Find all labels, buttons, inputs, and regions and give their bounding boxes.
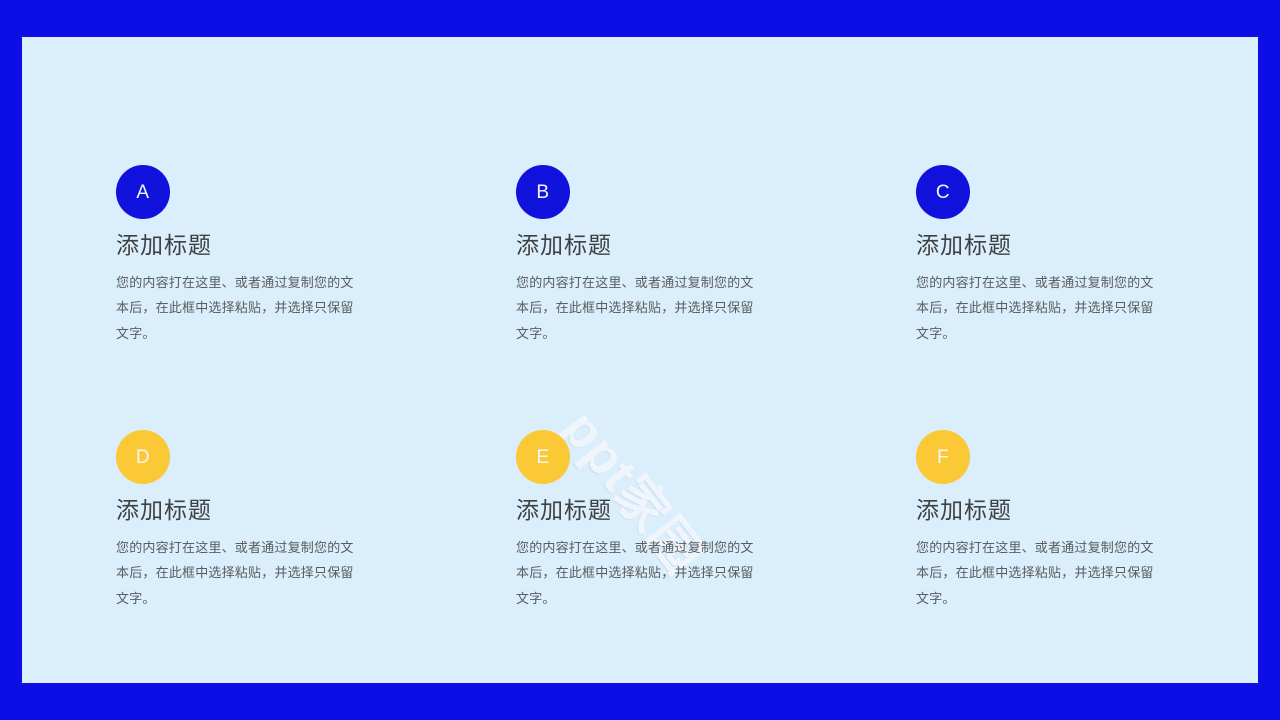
- card-a[interactable]: A 添加标题 您的内容打在这里、或者通过复制您的文本后，在此框中选择粘贴，并选择…: [116, 165, 366, 430]
- card-b-title: 添加标题: [516, 231, 766, 260]
- slide-content-panel: ppt家园 A 添加标题 您的内容打在这里、或者通过复制您的文本后，在此框中选择…: [22, 37, 1258, 683]
- badge-a: A: [116, 165, 170, 219]
- card-f[interactable]: F 添加标题 您的内容打在这里、或者通过复制您的文本后，在此框中选择粘贴，并选择…: [916, 430, 1166, 683]
- card-c-body: 您的内容打在这里、或者通过复制您的文本后，在此框中选择粘贴，并选择只保留文字。: [916, 270, 1162, 347]
- badge-b: B: [516, 165, 570, 219]
- card-c[interactable]: C 添加标题 您的内容打在这里、或者通过复制您的文本后，在此框中选择粘贴，并选择…: [916, 165, 1166, 430]
- card-c-title: 添加标题: [916, 231, 1166, 260]
- badge-f: F: [916, 430, 970, 484]
- slide-canvas: ppt家园 A 添加标题 您的内容打在这里、或者通过复制您的文本后，在此框中选择…: [0, 0, 1280, 720]
- card-f-body: 您的内容打在这里、或者通过复制您的文本后，在此框中选择粘贴，并选择只保留文字。: [916, 535, 1162, 612]
- badge-d: D: [116, 430, 170, 484]
- card-d-body: 您的内容打在这里、或者通过复制您的文本后，在此框中选择粘贴，并选择只保留文字。: [116, 535, 362, 612]
- card-e[interactable]: E 添加标题 您的内容打在这里、或者通过复制您的文本后，在此框中选择粘贴，并选择…: [516, 430, 766, 683]
- cards-grid: A 添加标题 您的内容打在这里、或者通过复制您的文本后，在此框中选择粘贴，并选择…: [116, 165, 1176, 683]
- card-f-title: 添加标题: [916, 496, 1166, 525]
- card-d-title: 添加标题: [116, 496, 366, 525]
- card-a-body: 您的内容打在这里、或者通过复制您的文本后，在此框中选择粘贴，并选择只保留文字。: [116, 270, 362, 347]
- card-d[interactable]: D 添加标题 您的内容打在这里、或者通过复制您的文本后，在此框中选择粘贴，并选择…: [116, 430, 366, 683]
- card-e-title: 添加标题: [516, 496, 766, 525]
- badge-c: C: [916, 165, 970, 219]
- badge-e: E: [516, 430, 570, 484]
- card-a-title: 添加标题: [116, 231, 366, 260]
- card-b-body: 您的内容打在这里、或者通过复制您的文本后，在此框中选择粘贴，并选择只保留文字。: [516, 270, 762, 347]
- card-e-body: 您的内容打在这里、或者通过复制您的文本后，在此框中选择粘贴，并选择只保留文字。: [516, 535, 762, 612]
- card-b[interactable]: B 添加标题 您的内容打在这里、或者通过复制您的文本后，在此框中选择粘贴，并选择…: [516, 165, 766, 430]
